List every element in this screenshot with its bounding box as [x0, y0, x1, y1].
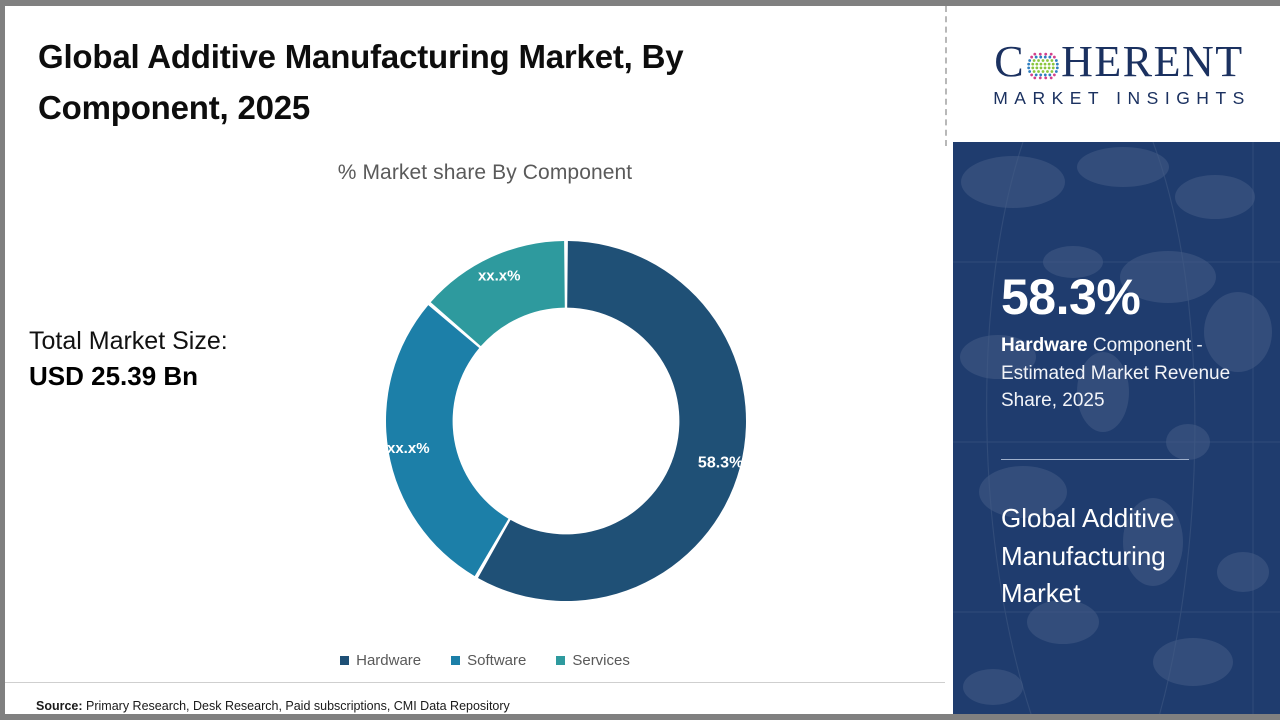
legend-item-software[interactable]: Software: [451, 652, 526, 669]
brand-logo-letters-herent: HERENT: [1061, 40, 1244, 84]
legend-label-software: Software: [467, 652, 526, 669]
stat-percentage: 58.3%: [1001, 272, 1140, 322]
market-name: Global Additive Manufacturing Market: [1001, 500, 1251, 613]
source-prefix: Source:: [36, 699, 83, 713]
total-market-size-block: Total Market Size: USD 25.39 Bn: [29, 326, 329, 394]
legend-swatch-services: [556, 656, 565, 665]
chart-legend: Hardware Software Services: [285, 652, 685, 669]
brand-logo-subtitle: MARKET INSIGHTS: [987, 88, 1251, 109]
legend-label-services: Services: [572, 652, 630, 669]
donut-label-hardware: 58.3%: [698, 454, 743, 471]
legend-swatch-software: [451, 656, 460, 665]
donut-label-software: xx.x%: [387, 440, 430, 457]
brand-logo-wordmark: C HERENT: [994, 40, 1243, 84]
source-text: Primary Research, Desk Research, Paid su…: [86, 699, 510, 713]
stat-panel-divider: [1001, 459, 1189, 460]
total-market-size-value: USD 25.39 Bn: [29, 360, 329, 394]
donut-slice-group: [386, 241, 746, 601]
right-sidebar-pane: C HERENT MARKET INSIGHTS: [953, 6, 1280, 720]
chart-subtitle: % Market share By Component: [195, 161, 775, 185]
world-map-watermark: [953, 142, 1280, 720]
brand-logo-letter-c: C: [994, 40, 1025, 84]
legend-label-hardware: Hardware: [356, 652, 421, 669]
brand-logo[interactable]: C HERENT MARKET INSIGHTS: [953, 6, 1280, 142]
infographic-root: Global Additive Manufacturing Market, By…: [0, 0, 1280, 720]
globe-dots-icon: [1026, 47, 1060, 81]
source-divider: [5, 682, 945, 683]
page-title: Global Additive Manufacturing Market, By…: [38, 31, 828, 133]
panel-dashed-divider: [945, 6, 947, 146]
donut-label-services: xx.x%: [478, 268, 521, 285]
legend-swatch-hardware: [340, 656, 349, 665]
stat-panel: 58.3% Hardware Component - Estimated Mar…: [953, 142, 1280, 720]
legend-item-hardware[interactable]: Hardware: [340, 652, 421, 669]
legend-item-services[interactable]: Services: [556, 652, 630, 669]
source-note: Source: Primary Research, Desk Research,…: [36, 699, 510, 713]
donut-chart: 58.3%xx.x%xx.x%: [380, 232, 752, 610]
total-market-size-label: Total Market Size:: [29, 326, 329, 357]
stat-description: Hardware Component - Estimated Market Re…: [1001, 332, 1251, 415]
stat-description-highlight: Hardware: [1001, 335, 1088, 356]
donut-chart-svg: 58.3%xx.x%xx.x%: [380, 232, 752, 610]
left-content-pane: Global Additive Manufacturing Market, By…: [5, 6, 945, 720]
